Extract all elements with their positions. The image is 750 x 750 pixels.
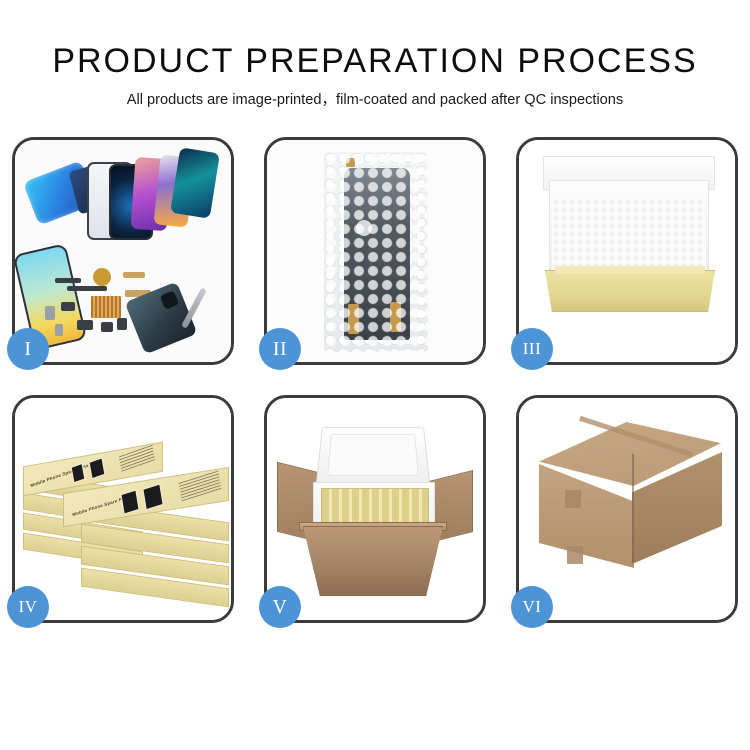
process-step-6: VI <box>516 395 738 623</box>
box-print-lines <box>119 445 155 472</box>
step-6-image <box>519 398 735 620</box>
product-preparation-infographic: PRODUCT PREPARATION PROCESS All products… <box>0 0 750 750</box>
carton-tape-patch <box>565 490 581 508</box>
bubble-wrap-bag-graphic <box>324 152 428 352</box>
step-badge-3: III <box>511 328 553 370</box>
carton-front-graphic <box>303 526 443 596</box>
process-step-4: Mobile Phone Spare Parts Mobile Phone Sp… <box>12 395 234 623</box>
step-badge-1: I <box>7 328 49 370</box>
step-badge-6: VI <box>511 586 553 628</box>
box-inner-edge-graphic <box>555 266 705 274</box>
flex-cable-part <box>123 272 145 278</box>
step-badge-5: V <box>259 586 301 628</box>
box-window-graphic <box>89 457 106 479</box>
box-window-graphic <box>120 489 139 514</box>
carton-vertical-edge <box>632 454 634 562</box>
step-badge-2: II <box>259 328 301 370</box>
speaker-coil-part <box>93 268 111 286</box>
step-2-image <box>267 140 483 362</box>
process-step-1: I <box>12 137 234 365</box>
box-window-graphic <box>71 463 86 483</box>
styrofoam-lid-graphic <box>316 427 431 486</box>
copper-grid-part <box>91 296 121 318</box>
step-5-image <box>267 398 483 620</box>
step-4-image: Mobile Phone Spare Parts Mobile Phone Sp… <box>15 398 231 620</box>
step-badge-4: IV <box>7 586 49 628</box>
flex-cable-part <box>348 304 359 334</box>
small-part <box>55 324 63 336</box>
page-title: PRODUCT PREPARATION PROCESS <box>0 41 750 81</box>
process-step-3: III <box>516 137 738 365</box>
box-stack-graphic: Mobile Phone Spare Parts Mobile Phone Sp… <box>19 424 231 604</box>
step-1-image <box>15 140 231 362</box>
flex-cable-part <box>390 302 401 332</box>
box-window-graphic <box>142 483 163 510</box>
packed-yellow-boxes-graphic <box>321 488 429 526</box>
small-part <box>45 306 55 320</box>
process-step-2: II <box>264 137 486 365</box>
foam-liner-graphic <box>552 198 706 270</box>
box-print-lines <box>179 471 221 502</box>
small-part <box>55 278 81 283</box>
small-part <box>101 322 113 332</box>
small-part <box>117 318 127 330</box>
small-part <box>61 302 75 311</box>
flex-cable-part <box>346 158 355 167</box>
step-3-image <box>519 140 735 362</box>
page-subtitle: All products are image-printed，film-coat… <box>0 90 750 110</box>
small-part <box>77 320 93 330</box>
process-step-5: V <box>264 395 486 623</box>
header: PRODUCT PREPARATION PROCESS All products… <box>0 0 750 110</box>
process-step-grid: I II <box>12 137 738 623</box>
small-part <box>67 286 107 291</box>
kraft-box-front-graphic <box>545 270 715 312</box>
carton-tape-patch <box>567 546 583 564</box>
